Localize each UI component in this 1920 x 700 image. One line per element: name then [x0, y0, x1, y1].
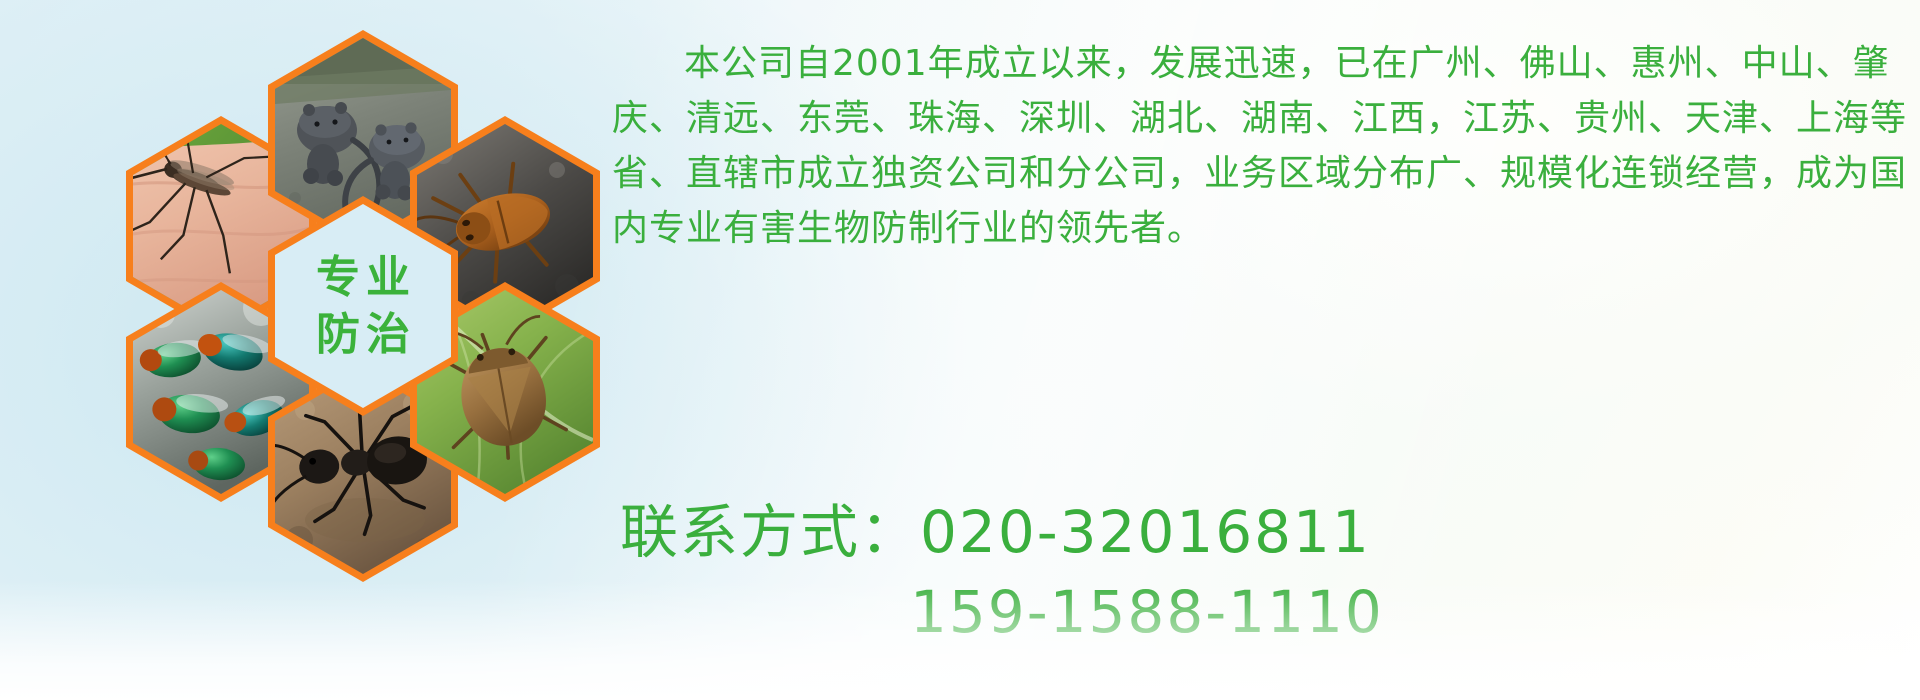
- promotional-banner: 专业 防治 本公司自2001年成立以来，发展迅速，已在广州、佛山、惠州、中山、肇…: [0, 0, 1920, 700]
- phone-primary[interactable]: 020-32016811: [920, 498, 1371, 566]
- contact-line-primary: 联系方式：020-32016811: [620, 492, 1880, 572]
- phone-secondary[interactable]: 159-1588-1110: [910, 578, 1384, 646]
- hexagon-photo-cluster: 专业 防治: [90, 0, 690, 580]
- logo-line-2: 防治: [310, 306, 416, 363]
- contact-label: 联系方式：: [620, 498, 920, 566]
- contact-line-secondary: 159-1588-1110: [620, 572, 1880, 652]
- intro-paragraph: 本公司自2001年成立以来，发展迅速，已在广州、佛山、惠州、中山、肇庆、清远、东…: [612, 36, 1912, 256]
- logo-line-1: 专业: [310, 249, 416, 306]
- contact-block: 联系方式：020-32016811 159-1588-1110: [620, 492, 1880, 652]
- copy-block: 本公司自2001年成立以来，发展迅速，已在广州、佛山、惠州、中山、肇庆、清远、东…: [612, 36, 1912, 256]
